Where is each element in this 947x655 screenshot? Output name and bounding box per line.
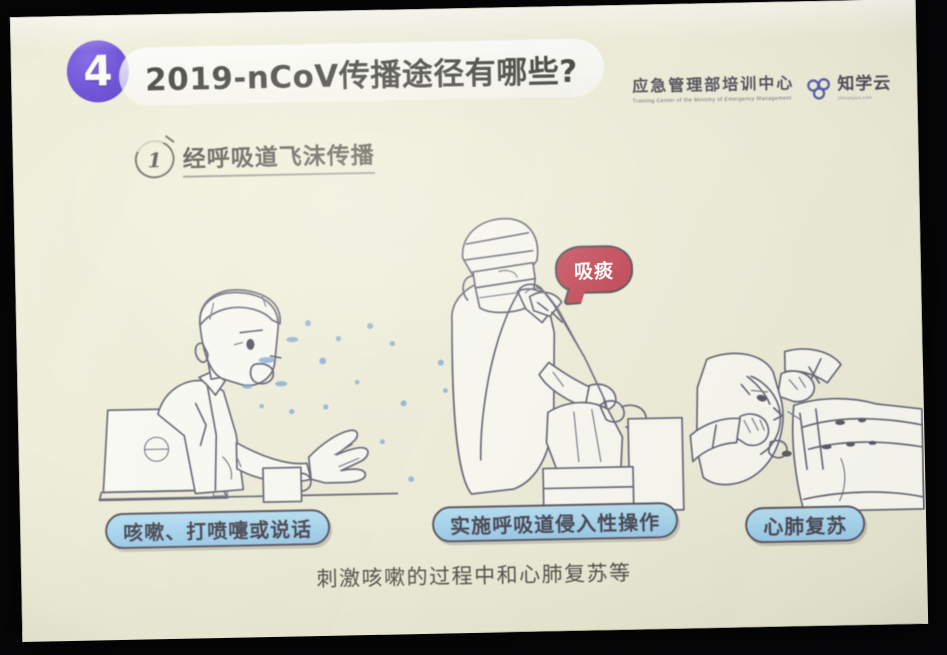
- slide-title-pill: 2019-nCoV传播途径有哪些?: [118, 38, 604, 106]
- caption-pill-cough: 咳嗽、打喷嚏或说话: [105, 509, 331, 550]
- caption-pill-airway-procedure: 实施呼吸道侵入性操作: [432, 502, 679, 543]
- speech-bubble: 吸痰: [555, 245, 634, 295]
- speech-bubble-text: 吸痰: [574, 256, 615, 284]
- organization-logo-block: 应急管理部培训中心 Training Center of the Ministr…: [632, 73, 891, 104]
- subtitle-row: 1 经呼吸道飞沫传播: [134, 136, 375, 179]
- brand-logo: 知学云 zhixueyun.com: [806, 75, 891, 101]
- subtitle-number: 1: [148, 148, 162, 172]
- subtitle-text: 经呼吸道飞沫传播: [182, 136, 375, 178]
- illustration-cpr: [689, 347, 924, 514]
- projected-slide: 4 2019-nCoV传播途径有哪些? 应急管理部培训中心 Training C…: [10, 0, 928, 642]
- brand-name-cn: 知学云: [837, 75, 891, 93]
- org-name-cn: 应急管理部培训中心: [632, 75, 794, 95]
- caption-text-1: 咳嗽、打喷嚏或说话: [123, 513, 313, 546]
- illustration-man-coughing-at-laptop: [93, 281, 427, 513]
- footnote-text: 刺激咳嗽的过程中和心肺复苏等: [21, 551, 927, 599]
- cloud-mark-icon: [806, 76, 832, 101]
- ring-tick: [165, 135, 175, 143]
- caption-text-3: 心肺复苏: [763, 509, 848, 540]
- brand-name-en: zhixueyun.com: [838, 94, 892, 100]
- subtitle-number-circle-icon: 1: [134, 140, 175, 179]
- page-title: 2019-nCoV传播途径有哪些?: [145, 45, 579, 99]
- caption-text-2: 实施呼吸道侵入性操作: [450, 506, 661, 539]
- caption-pill-cpr: 心肺复苏: [745, 505, 866, 543]
- photo-of-projection-screen: 4 2019-nCoV传播途径有哪些? 应急管理部培训中心 Training C…: [0, 0, 947, 655]
- org-name-group: 应急管理部培训中心 Training Center of the Ministr…: [632, 75, 795, 104]
- brand-text-group: 知学云 zhixueyun.com: [837, 75, 891, 100]
- org-name-en: Training Center of the Ministry of Emerg…: [633, 95, 795, 104]
